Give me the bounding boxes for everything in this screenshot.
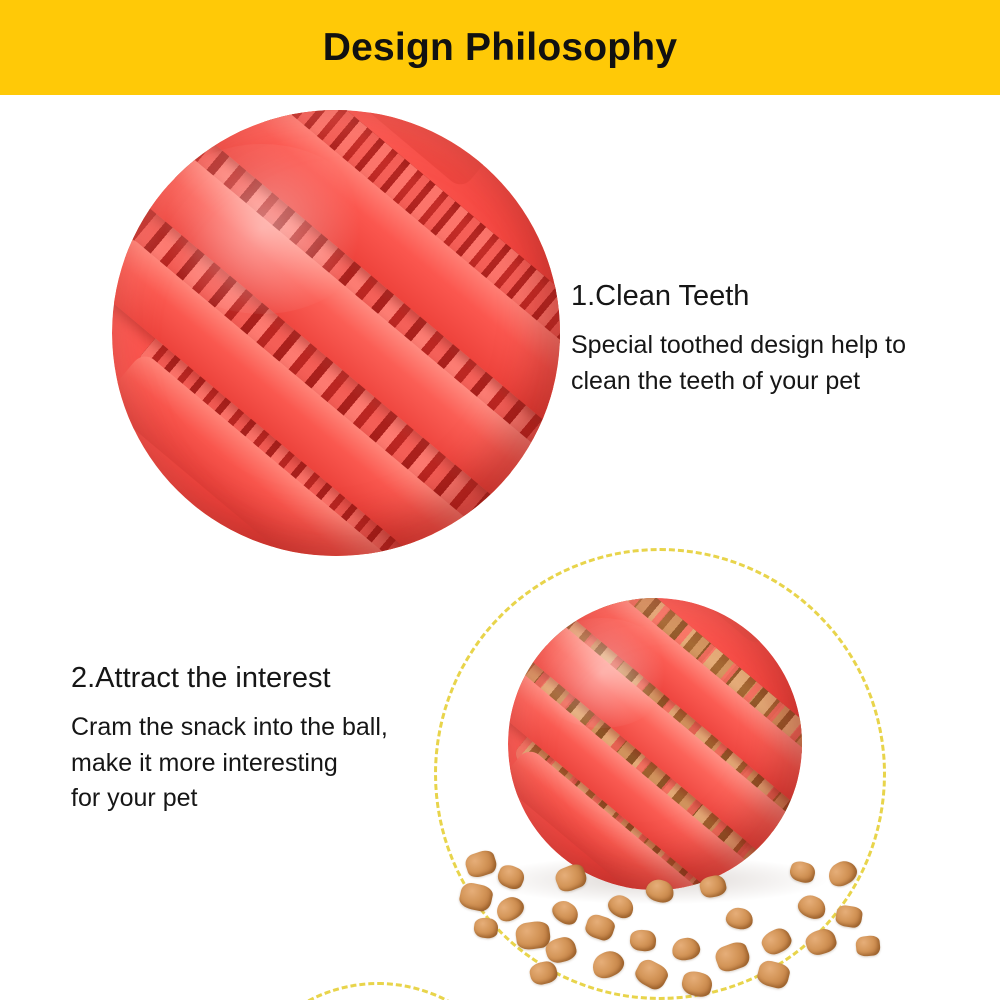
feature-2-body-line: make it more interesting (71, 746, 388, 782)
feature-2-body-line: Cram the snack into the ball, (71, 710, 388, 746)
kibble-piece (835, 904, 864, 928)
feature-1-body: Special toothed design help to clean the… (571, 328, 906, 399)
kibble-piece (629, 929, 657, 953)
red-ball-filled-with-kibble-image (508, 598, 802, 890)
kibble-piece (755, 959, 791, 991)
product-infographic-page: Design Philosophy 1.Clean Teeth (0, 0, 1000, 1000)
red-toothed-chew-ball-closeup-image (112, 110, 560, 556)
feature-2-body-line: for your pet (71, 781, 388, 817)
feature-2-heading: 2.Attract the interest (71, 663, 331, 695)
page-title: Design Philosophy (0, 0, 1000, 95)
kibble-piece (855, 935, 881, 957)
feature-1-heading: 1.Clean Teeth (571, 281, 749, 313)
dashed-highlight-circle-partial (228, 982, 528, 1000)
feature-2-body: Cram the snack into the ball, make it mo… (71, 710, 388, 817)
feature-1-body-line: Special toothed design help to (571, 328, 906, 364)
feature-1-body-line: clean the teeth of your pet (571, 364, 906, 400)
